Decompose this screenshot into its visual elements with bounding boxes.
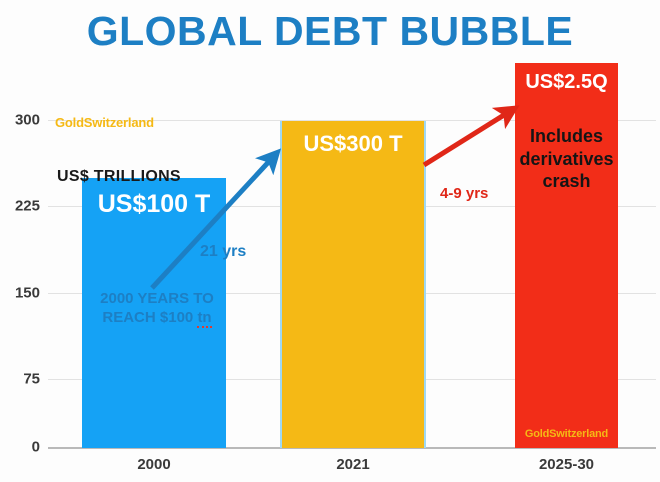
derivatives-crash-note: Includes derivatives crash	[515, 125, 618, 193]
watermark-goldswitzerland-top: GoldSwitzerland	[55, 115, 154, 130]
note-2000-years-tn: tn	[197, 309, 211, 328]
bar-2025-30-value: US$2.5Q	[515, 71, 618, 94]
note-2000-years-line-2: REACH $100	[102, 309, 197, 326]
bar-2021[interactable]: US$300 T	[280, 121, 426, 448]
ytick-0: 0	[0, 439, 40, 456]
page-title: GLOBAL DEBT BUBBLE	[0, 8, 660, 55]
xtick-2000: 2000	[82, 456, 226, 473]
watermark-goldswitzerland-bar: GoldSwitzerland	[515, 428, 618, 440]
derivatives-line-1: Includes	[530, 126, 603, 146]
chart-slide: GLOBAL DEBT BUBBLE 300 225 150 75 0 US$1…	[0, 0, 660, 482]
bar-2000-value: US$100 T	[82, 190, 226, 219]
derivatives-line-2: derivatives	[519, 149, 613, 169]
ytick-300: 300	[0, 112, 40, 129]
label-21-yrs: 21 yrs	[200, 243, 246, 261]
ytick-225: 225	[0, 198, 40, 215]
label-4-9-yrs: 4-9 yrs	[440, 185, 488, 202]
ytick-75: 75	[0, 371, 40, 388]
xtick-2021: 2021	[280, 456, 426, 473]
derivatives-line-3: crash	[542, 171, 590, 191]
bar-2025-30[interactable]: US$2.5Q Includes derivatives crash GoldS…	[515, 63, 618, 448]
y-axis-units-label: US$ TRILLIONS	[57, 168, 181, 186]
note-2000-years-line-1: 2000 YEARS TO	[100, 290, 214, 307]
bar-2021-value: US$300 T	[282, 131, 424, 157]
ytick-150: 150	[0, 285, 40, 302]
xtick-2025-30: 2025-30	[515, 456, 618, 473]
note-2000-years-to-reach: 2000 YEARS TO REACH $100 tn	[72, 290, 242, 328]
